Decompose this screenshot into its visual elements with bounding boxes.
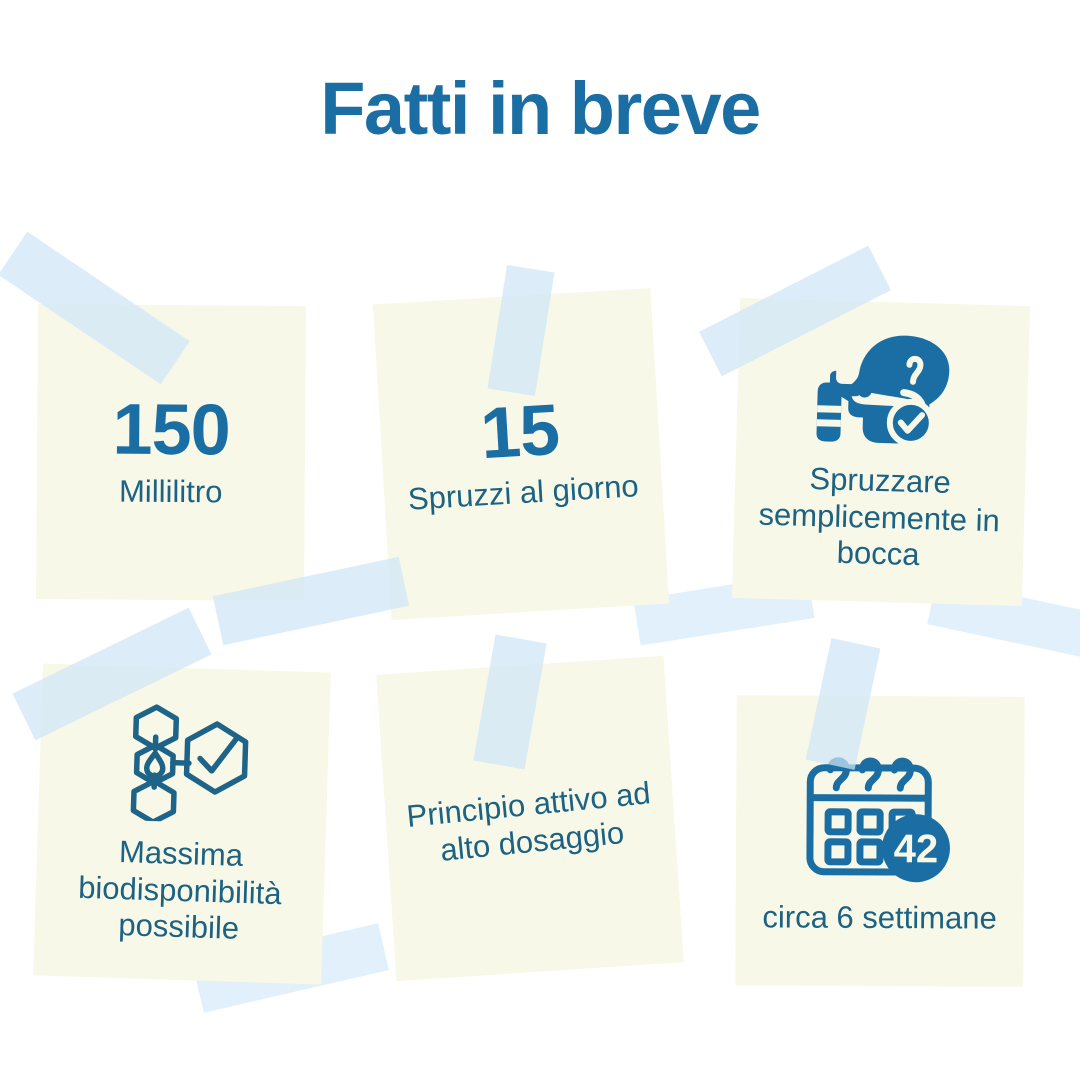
stat-label: Millilitro [119,473,223,510]
fact-card-spruzzi: 15 Spruzzi al giorno [373,288,669,620]
calendar-icon: 42 [800,745,961,886]
calendar-badge-value: 42 [894,827,939,871]
card-caption: circa 6 settimane [762,899,997,937]
stat-number: 15 [479,395,561,470]
fact-card-spruzzare: Spruzzare semplicemente in bocca [732,298,1030,606]
mouth-spray-icon [806,329,959,451]
stat-number: 150 [112,395,230,466]
fact-card-biodisponibilita: Massima biodisponibilità possibile [33,664,331,985]
fact-card-principio-attivo: Principio attivo ad alto dosaggio [376,656,684,981]
stat-label: Spruzzi al giorno [407,468,640,518]
molecule-check-icon [115,700,253,824]
page-title: Fatti in breve [0,66,1080,151]
fact-card-settimane: 42 circa 6 settimane [735,695,1025,987]
card-caption: Spruzzare semplicemente in bocca [747,459,1012,576]
fact-card-millilitro: 150 Millilitro [36,304,306,601]
infographic-canvas: Fatti in breve 150 Millilitro 15 Spruzzi… [0,0,1080,1080]
card-caption: Principio attivo ad alto dosaggio [397,774,663,872]
card-caption: Massima biodisponibilità possibile [48,832,311,950]
